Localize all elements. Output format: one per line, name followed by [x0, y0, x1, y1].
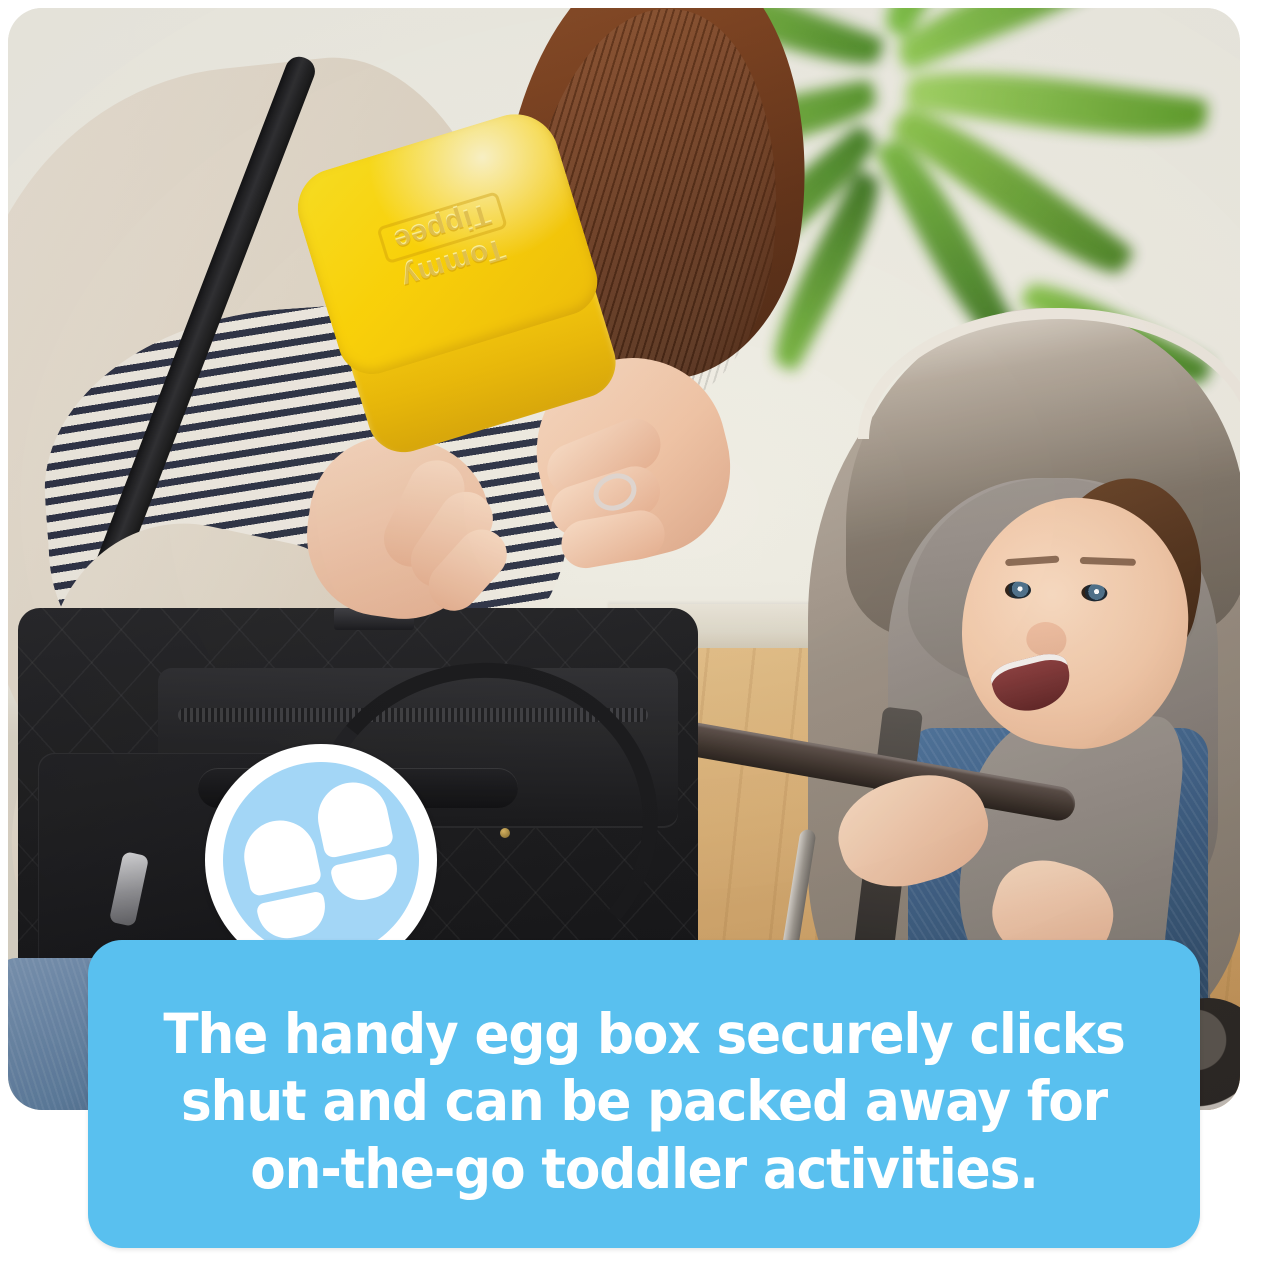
badge-inner-circle	[223, 762, 419, 958]
caption-line-2: shut and can be packed away for	[181, 1068, 1107, 1135]
footprint-left-icon	[238, 814, 333, 944]
baby-eye-right	[1081, 584, 1108, 602]
caption-banner: The handy egg box securely clicks shut a…	[88, 940, 1200, 1248]
feature-card: Tommy Tippee The handy egg box securely …	[0, 0, 1280, 1280]
caption-text: The handy egg box securely clicks shut a…	[121, 940, 1166, 1248]
footprint-right-icon	[311, 776, 404, 906]
baby-eye-left	[1005, 582, 1031, 599]
caption-line-3: on-the-go toddler activities.	[250, 1136, 1037, 1203]
bag-rivet-right	[500, 828, 510, 838]
egg-box-embossed-brand: Tommy Tippee	[346, 163, 548, 325]
caption-line-1: The handy egg box securely clicks	[163, 1001, 1124, 1068]
